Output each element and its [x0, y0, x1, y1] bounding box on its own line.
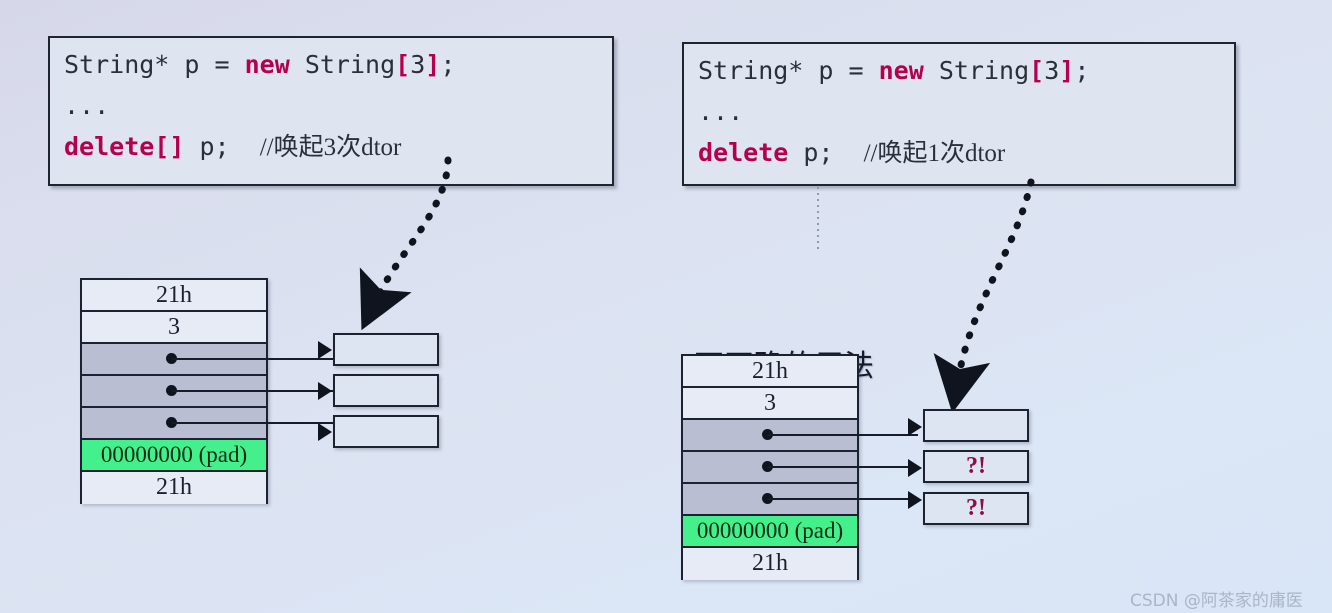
csdn-watermark: CSDN @阿茶家的庸医	[1130, 586, 1303, 611]
left-code-l3-var: p;	[184, 132, 259, 161]
left-code-l1-bracket-open: [	[395, 50, 410, 79]
left-code-l3-comment: //唤起3次dtor	[260, 134, 402, 161]
right-mem-row-pointer-3	[683, 484, 857, 516]
right-mem-row-cookie-top: 21h	[683, 356, 857, 388]
right-mem-row-count: 3	[683, 388, 857, 420]
right-code-l1-type: String	[924, 56, 1029, 85]
left-code-l1-pre: String* p =	[64, 50, 245, 79]
left-slot-arrowhead-1	[318, 341, 332, 359]
left-code-l1-bracket-close: ]	[425, 50, 440, 79]
right-code-l3-keyword: delete	[698, 138, 788, 167]
left-code-l1-size: 3	[410, 50, 425, 79]
right-slot-2[interactable]: ?!	[923, 450, 1029, 483]
left-code-line-1: String* p = new String[3];	[64, 44, 598, 85]
right-code-box: String* p = new String[3]; ... delete p;…	[682, 42, 1236, 186]
right-code-line-2: ...	[698, 91, 1220, 132]
pointer-lead-line	[768, 498, 918, 500]
left-mem-row-pointer-2	[82, 376, 266, 408]
left-code-l1-type: String	[290, 50, 395, 79]
right-code-l1-keyword: new	[879, 56, 924, 85]
right-mem-row-cookie-bottom: 21h	[683, 548, 857, 580]
left-mem-row-cookie-top: 21h	[82, 280, 266, 312]
left-slot-3[interactable]	[333, 415, 439, 448]
pointer-lead-line	[768, 434, 918, 436]
right-mem-row-pointer-1	[683, 420, 857, 452]
slide-canvas: String* p = new String[3]; ... delete[] …	[0, 0, 1332, 613]
right-slot-3[interactable]: ?!	[923, 492, 1029, 525]
right-memory-block: 21h 3 00000000 (pad) 21h	[681, 354, 859, 580]
right-slot-arrowhead-1	[908, 418, 922, 436]
right-code-l1-semicolon: ;	[1074, 56, 1089, 85]
right-slot-arrowhead-3	[908, 491, 922, 509]
pointer-lead-line	[768, 466, 918, 468]
left-code-l3-keyword: delete[]	[64, 132, 184, 161]
right-code-line-3: delete p; //唤起1次dtor	[698, 132, 1220, 174]
right-slot-arrowhead-2	[908, 459, 922, 477]
left-slot-arrowhead-2	[318, 382, 332, 400]
left-mem-row-pointer-1	[82, 344, 266, 376]
left-code-l1-keyword: new	[245, 50, 290, 79]
left-mem-row-pad: 00000000 (pad)	[82, 440, 266, 472]
right-code-l3-var: p;	[788, 138, 863, 167]
right-code-l1-pre: String* p =	[698, 56, 879, 85]
left-memory-block: 21h 3 00000000 (pad) 21h	[80, 278, 268, 504]
right-mem-row-pad: 00000000 (pad)	[683, 516, 857, 548]
right-callout-arrow	[958, 182, 1031, 380]
right-code-line-1: String* p = new String[3];	[698, 50, 1220, 91]
left-code-line-2: ...	[64, 85, 598, 126]
left-mem-row-count: 3	[82, 312, 266, 344]
left-slot-arrowhead-3	[318, 423, 332, 441]
left-slot-1[interactable]	[333, 333, 439, 366]
left-mem-row-pointer-3	[82, 408, 266, 440]
left-code-box: String* p = new String[3]; ... delete[] …	[48, 36, 614, 186]
right-code-l1-bracket-close: ]	[1059, 56, 1074, 85]
right-mem-row-pointer-2	[683, 452, 857, 484]
left-code-l1-semicolon: ;	[440, 50, 455, 79]
right-code-l1-size: 3	[1044, 56, 1059, 85]
right-code-l1-bracket-open: [	[1029, 56, 1044, 85]
left-slot-2[interactable]	[333, 374, 439, 407]
left-mem-row-cookie-bottom: 21h	[82, 472, 266, 504]
right-slot-1[interactable]	[923, 409, 1029, 442]
right-code-l3-comment: //唤起1次dtor	[864, 140, 1006, 167]
left-code-line-3: delete[] p; //唤起3次dtor	[64, 126, 598, 168]
